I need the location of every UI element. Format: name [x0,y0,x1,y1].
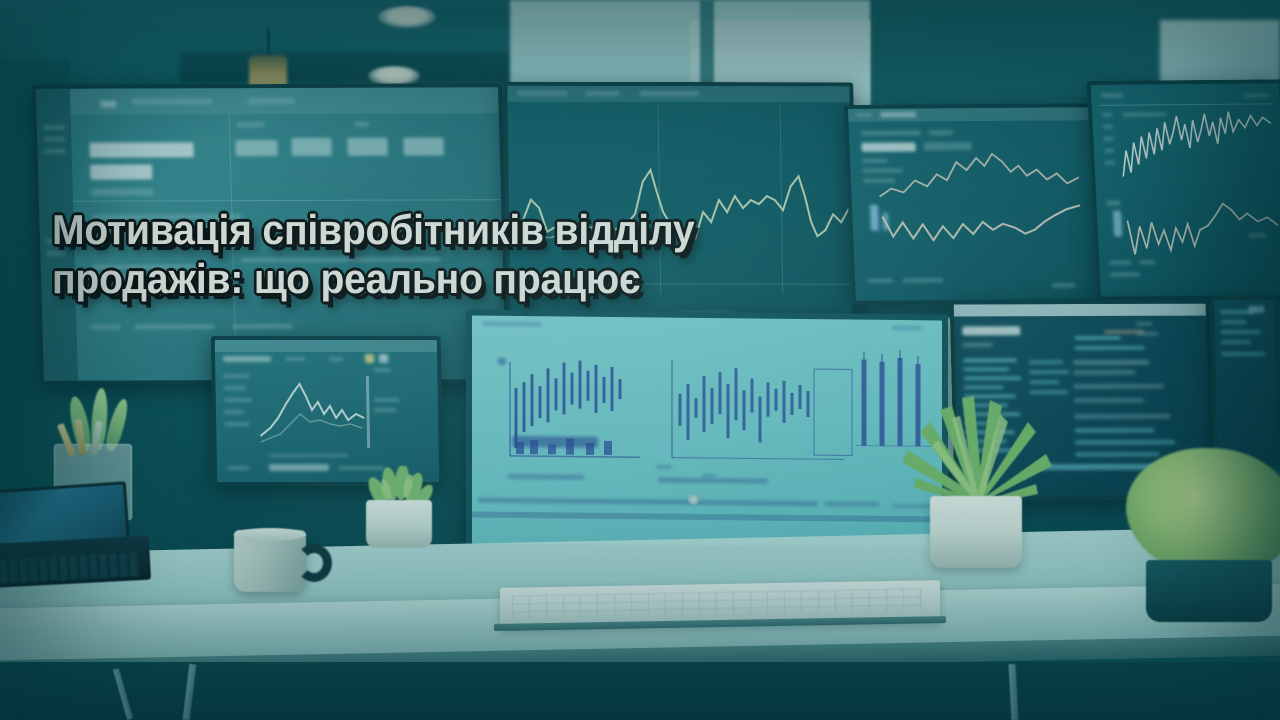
coffee-mug-rim [234,528,306,541]
coffee-mug-handle [296,544,332,582]
monitor-bezel [844,103,1103,305]
far-right-monitor [1210,296,1280,466]
monitor-screen [472,316,942,549]
monitor-bezel [1087,79,1280,300]
right-monitor-b [1087,79,1280,300]
aloe-plant-pot [930,496,1022,568]
candlestick-chart-1 [508,352,648,465]
overlay-title-line-1: Мотивація співробітників відділу [52,206,833,255]
aloe-plant-leaves [880,392,1070,510]
monitor-stand [305,484,349,514]
shrub-planter [1146,560,1272,622]
thumbnail-image: Мотивація співробітників відділу продажі… [0,0,1280,720]
small-plant-pot [366,500,432,548]
monitor-screen [215,340,440,482]
monitor-screen [1091,83,1280,296]
desk-left-monitor [211,336,444,486]
overlay-title-line-2: продажів: що реально працює [52,255,833,304]
center-ultrawide-monitor [466,309,948,554]
candlestick-chart-2 [664,354,854,468]
monitor-bezel [211,336,444,486]
peak-line-chart [215,362,439,452]
overlay-title: Мотивація співробітників відділу продажі… [52,206,833,303]
right-monitor-a [844,103,1103,305]
monitor-bezel [466,309,948,554]
power-led-icon [688,494,699,505]
line-chart-lower [852,193,1097,273]
monitor-screen [848,107,1098,301]
volatile-line-chart-top [1092,105,1280,193]
monitor-screen [1214,300,1278,462]
monitor-bezel [1210,296,1280,466]
volatile-line-chart-bottom [1096,195,1280,281]
recessed-downlight-icon [378,6,436,28]
